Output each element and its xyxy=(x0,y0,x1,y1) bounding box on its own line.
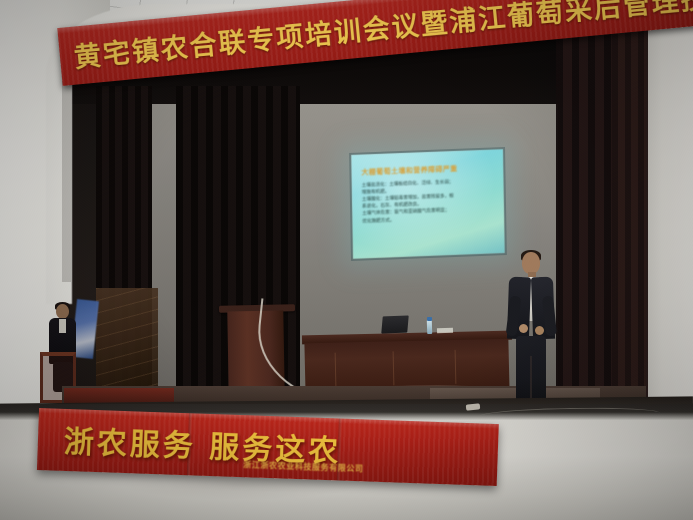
table-panel-seam xyxy=(455,350,457,384)
speaker-person xyxy=(500,252,562,412)
speaker-hand-left xyxy=(519,324,528,333)
attendee-shirt xyxy=(59,319,66,333)
speaker-head xyxy=(522,252,540,274)
screen-border xyxy=(349,147,507,261)
water-bottle xyxy=(427,320,432,334)
water-bottle-cap xyxy=(427,317,432,321)
attendee-head xyxy=(56,304,69,319)
table-panel-seam xyxy=(393,351,395,385)
cabinet-texture xyxy=(96,288,158,388)
speaker-hand-right xyxy=(535,326,544,335)
photo-scene: 黄宅镇农合联专项培训会议暨浦江葡萄采后管理技术培训会 大棚葡萄土壤和营养障碍严重… xyxy=(0,0,693,520)
papers-on-table xyxy=(437,328,453,334)
stage-left-cabinet xyxy=(96,288,158,388)
projector-screen: 大棚葡萄土壤和营养障碍严重 土壤盐渍化：土壤板结白化、泛绿、生长弱； 增施有机肥… xyxy=(351,149,505,259)
right-wall xyxy=(641,0,693,430)
speaker-leg-gap xyxy=(530,356,532,404)
